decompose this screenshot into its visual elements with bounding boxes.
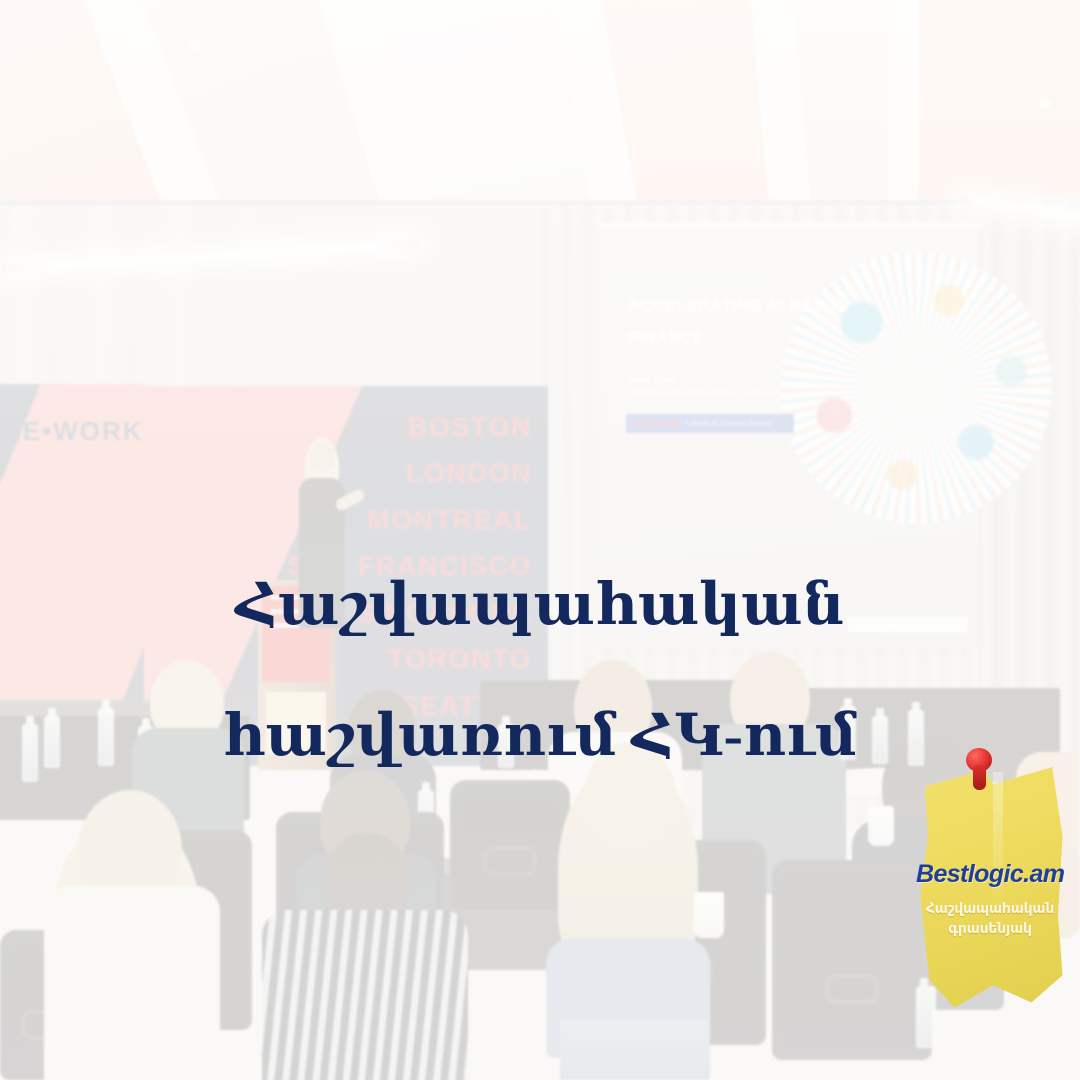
ceiling-spotlight — [1038, 98, 1052, 108]
sticky-note-fold — [993, 772, 1003, 916]
pushpin-needle — [973, 765, 986, 790]
presenter-head — [309, 442, 335, 472]
brand-name: Bestlogic.am — [916, 860, 1064, 889]
logo-sticky-note[interactable]: Bestlogic.am Հաշվապահական գրասենյակ — [916, 762, 1064, 1010]
coffee-cup — [694, 892, 724, 938]
rework-logo: RE•WORK — [2, 416, 144, 447]
pushpin-icon — [966, 748, 992, 800]
slide-title: ACCELERATING AI R&D IN FINANCE — [628, 290, 868, 354]
ceiling-spotlight — [188, 40, 202, 50]
ceiling-beam — [888, 0, 918, 210]
slide-rework-logo: RE•WORK — [633, 419, 681, 429]
ceiling-panel — [900, 0, 1080, 203]
page-title-line-2: հաշվառում ՀԿ-ում — [40, 703, 1040, 769]
audience-torso — [44, 886, 220, 1080]
slide-event-banner: RE•WORK London AI Finance Summit — [626, 414, 794, 433]
promo-card-canvas: ACCELERATING AI R&D IN FINANCE Helen Byr… — [0, 0, 1080, 1080]
audience-torso — [262, 910, 468, 1080]
laptop — [560, 1020, 710, 1080]
page-title-line-1: Հաշվապահական — [40, 572, 1040, 638]
audience-member — [262, 832, 462, 1080]
slide-event-name: London AI Finance Summit — [687, 420, 772, 427]
chair — [772, 860, 932, 1060]
brand-tagline: Հաշվապահական գրասենյակ — [922, 898, 1058, 939]
slide-speaker-role: AI Engineering EMEA-APAC, Graphcore — [628, 387, 878, 399]
slide-speaker-block: Helen Byrne AI Engineering EMEA-APAC, Gr… — [628, 374, 878, 400]
slide-speaker-name: Helen Byrne — [628, 374, 878, 387]
